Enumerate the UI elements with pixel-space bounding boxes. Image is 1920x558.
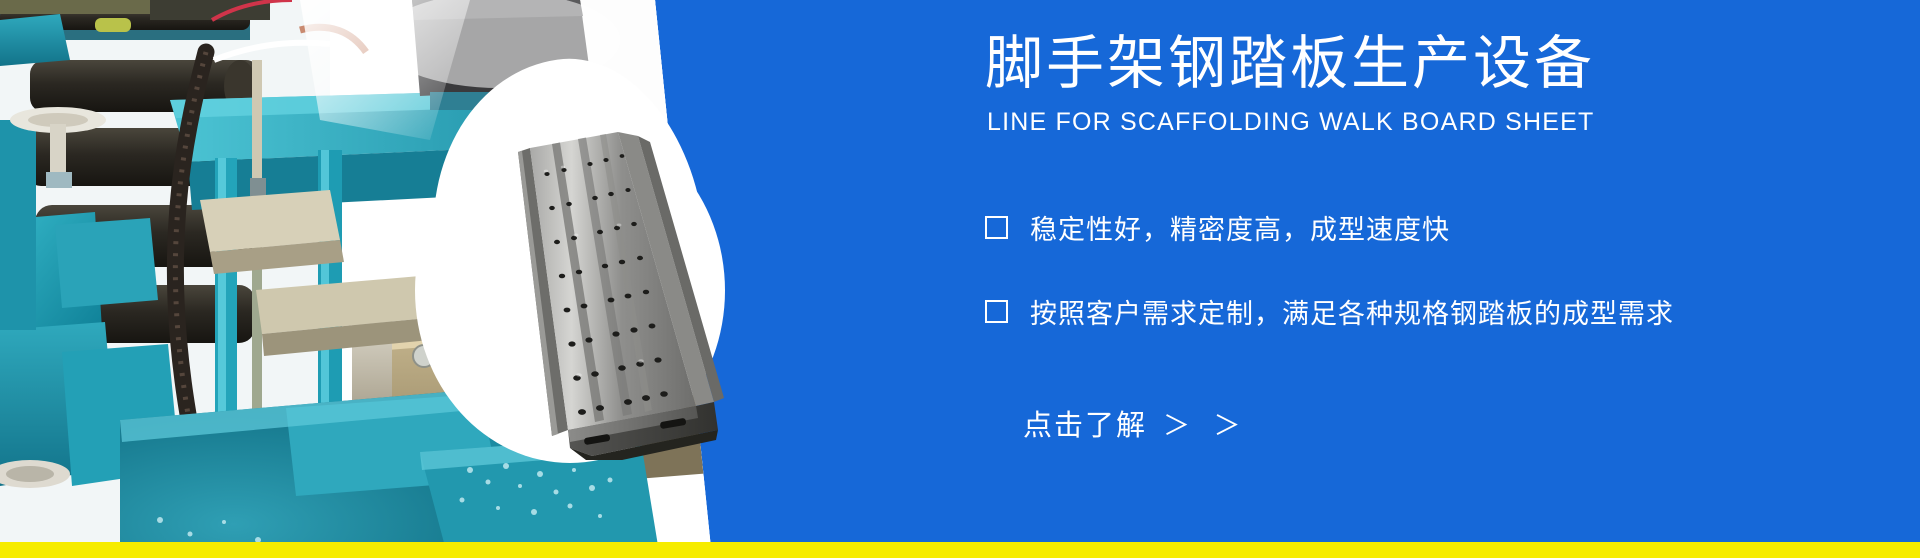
product-photo [500, 130, 730, 460]
feature-item: 稳定性好，精密度高，成型速度快 [985, 208, 1845, 247]
learn-more-label: 点击了解 [1023, 402, 1147, 444]
feature-text: 稳定性好，精密度高，成型速度快 [1030, 208, 1450, 247]
bottom-accent-strip [0, 542, 1920, 558]
feature-list: 稳定性好，精密度高，成型速度快 按照客户需求定制，满足各种规格钢踏板的成型需求 [985, 208, 1845, 376]
steel-plank-illustration [500, 130, 730, 460]
square-bullet-icon [985, 300, 1008, 323]
square-bullet-icon [985, 216, 1008, 239]
feature-item: 按照客户需求定制，满足各种规格钢踏板的成型需求 [985, 292, 1845, 331]
learn-more-link[interactable]: 点击了解 ＞ ＞ [1023, 402, 1249, 444]
banner-title: 脚手架钢踏板生产设备 [985, 34, 1595, 95]
banner-subtitle: LINE FOR SCAFFOLDING WALK BOARD SHEET [987, 108, 1594, 137]
promo-banner: 脚手架钢踏板生产设备 LINE FOR SCAFFOLDING WALK BOA… [0, 0, 1920, 558]
banner-copy: 脚手架钢踏板生产设备 LINE FOR SCAFFOLDING WALK BOA… [975, 0, 1855, 558]
chevron-right-icon: ＞ ＞ [1163, 404, 1249, 443]
feature-text: 按照客户需求定制，满足各种规格钢踏板的成型需求 [1030, 292, 1674, 331]
